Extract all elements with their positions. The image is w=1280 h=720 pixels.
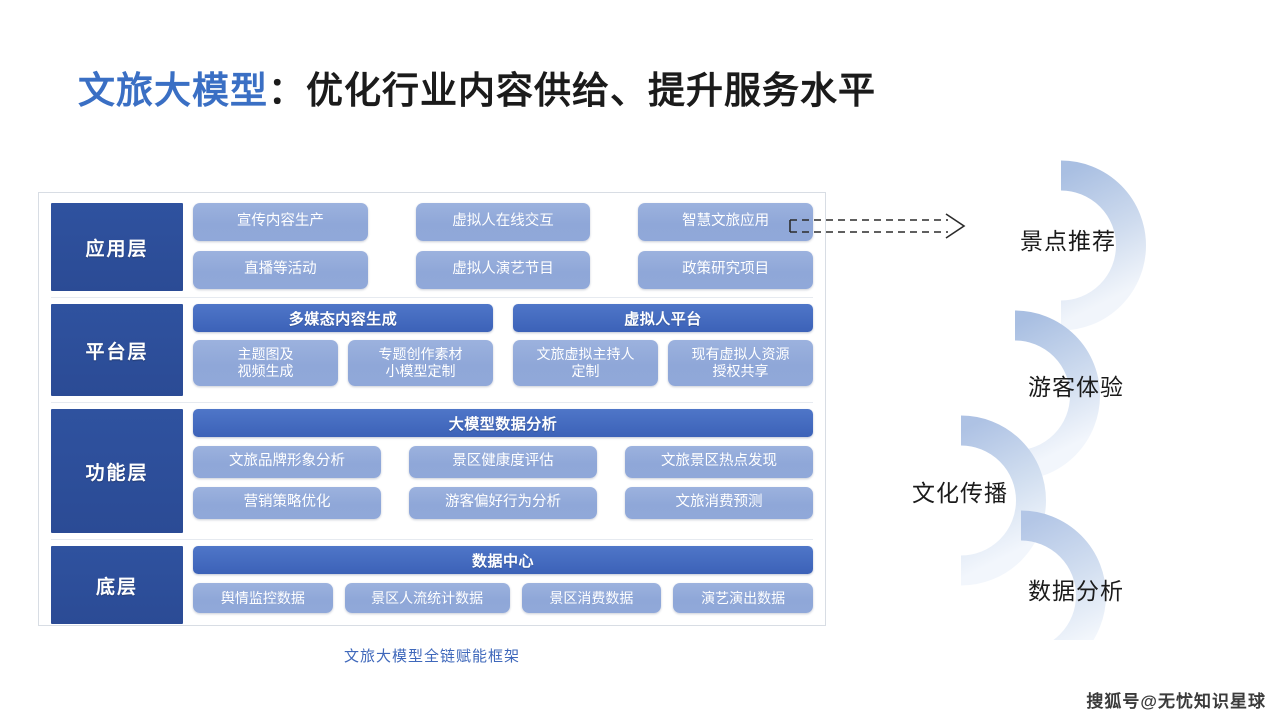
layer-row-platform: 平台层 多媒态内容生成 主题图及 视频生成 专题创作素材 小模型定制 虚拟人平台… xyxy=(51,297,813,396)
platform-media-boxes: 主题图及 视频生成 专题创作素材 小模型定制 xyxy=(193,340,493,386)
application-box-grid: 宣传内容生产 虚拟人在线交互 智慧文旅应用 直播等活动 虚拟人演艺节目 政策研究… xyxy=(193,203,813,289)
base-box-2[interactable]: 景区人流统计数据 xyxy=(345,583,510,613)
arc-label-1: 景点推荐 xyxy=(1020,222,1116,256)
layer-badge-platform: 平台层 xyxy=(51,304,183,396)
platform-group-avatar: 虚拟人平台 文旅虚拟主持人 定制 现有虚拟人资源 授权共享 xyxy=(513,304,813,386)
layer-badge-application: 应用层 xyxy=(51,203,183,291)
arc-label-4: 数据分析 xyxy=(1028,572,1124,606)
func-box-1[interactable]: 文旅品牌形象分析 xyxy=(193,446,381,478)
platform-avatar-boxes: 文旅虚拟主持人 定制 现有虚拟人资源 授权共享 xyxy=(513,340,813,386)
func-box-2[interactable]: 景区健康度评估 xyxy=(409,446,597,478)
base-box-grid: 舆情监控数据 景区人流统计数据 景区消费数据 演艺演出数据 xyxy=(193,583,813,613)
function-box-grid: 文旅品牌形象分析 景区健康度评估 文旅景区热点发现 营销策略优化 游客偏好行为分… xyxy=(193,446,813,519)
platform-box-1[interactable]: 主题图及 视频生成 xyxy=(193,340,338,386)
layer-body-application: 宣传内容生产 虚拟人在线交互 智慧文旅应用 直播等活动 虚拟人演艺节目 政策研究… xyxy=(193,203,813,291)
func-box-4[interactable]: 营销策略优化 xyxy=(193,487,381,519)
page-title-main: ：优化行业内容供给、提升服务水平 xyxy=(268,70,876,111)
platform-group-media: 多媒态内容生成 主题图及 视频生成 专题创作素材 小模型定制 xyxy=(193,304,493,386)
function-wrap: 大模型数据分析 文旅品牌形象分析 景区健康度评估 文旅景区热点发现 营销策略优化… xyxy=(193,409,813,519)
watermark: 搜狐号@无忧知识星球 xyxy=(1086,687,1266,712)
app-box-4[interactable]: 直播等活动 xyxy=(193,251,368,289)
page-title-accent: 文旅大模型 xyxy=(78,70,268,111)
framework-caption: 文旅大模型全链赋能框架 xyxy=(38,645,826,666)
outcome-arc-cluster: 景点推荐 游客体验 文化传播 数据分析 xyxy=(880,140,1280,640)
app-box-5[interactable]: 虚拟人演艺节目 xyxy=(416,251,591,289)
platform-box-2[interactable]: 专题创作素材 小模型定制 xyxy=(348,340,493,386)
layer-body-platform: 多媒态内容生成 主题图及 视频生成 专题创作素材 小模型定制 虚拟人平台 文旅虚… xyxy=(193,304,813,396)
layer-badge-base: 底层 xyxy=(51,546,183,624)
function-header[interactable]: 大模型数据分析 xyxy=(193,409,813,437)
layer-row-function: 功能层 大模型数据分析 文旅品牌形象分析 景区健康度评估 文旅景区热点发现 营销… xyxy=(51,402,813,533)
app-box-2[interactable]: 虚拟人在线交互 xyxy=(416,203,591,241)
func-box-6[interactable]: 文旅消费预测 xyxy=(625,487,813,519)
base-header[interactable]: 数据中心 xyxy=(193,546,813,574)
layer-row-base: 底层 数据中心 舆情监控数据 景区人流统计数据 景区消费数据 演艺演出数据 xyxy=(51,539,813,624)
layer-body-base: 数据中心 舆情监控数据 景区人流统计数据 景区消费数据 演艺演出数据 xyxy=(193,546,813,624)
func-box-5[interactable]: 游客偏好行为分析 xyxy=(409,487,597,519)
platform-header-media[interactable]: 多媒态内容生成 xyxy=(193,304,493,332)
arc-label-3: 文化传播 xyxy=(912,474,1008,508)
app-box-6[interactable]: 政策研究项目 xyxy=(638,251,813,289)
layer-body-function: 大模型数据分析 文旅品牌形象分析 景区健康度评估 文旅景区热点发现 营销策略优化… xyxy=(193,409,813,533)
app-box-3[interactable]: 智慧文旅应用 xyxy=(638,203,813,241)
page-title: 文旅大模型：优化行业内容供给、提升服务水平 xyxy=(78,60,876,114)
framework-diagram: 应用层 宣传内容生产 虚拟人在线交互 智慧文旅应用 直播等活动 虚拟人演艺节目 … xyxy=(38,192,826,626)
platform-box-4[interactable]: 现有虚拟人资源 授权共享 xyxy=(668,340,813,386)
layer-badge-function: 功能层 xyxy=(51,409,183,533)
base-box-3[interactable]: 景区消费数据 xyxy=(522,583,662,613)
app-box-1[interactable]: 宣传内容生产 xyxy=(193,203,368,241)
layer-row-application: 应用层 宣传内容生产 虚拟人在线交互 智慧文旅应用 直播等活动 虚拟人演艺节目 … xyxy=(51,203,813,291)
base-box-4[interactable]: 演艺演出数据 xyxy=(673,583,813,613)
platform-box-3[interactable]: 文旅虚拟主持人 定制 xyxy=(513,340,658,386)
arc-label-2: 游客体验 xyxy=(1028,368,1124,402)
func-box-3[interactable]: 文旅景区热点发现 xyxy=(625,446,813,478)
base-box-1[interactable]: 舆情监控数据 xyxy=(193,583,333,613)
base-wrap: 数据中心 舆情监控数据 景区人流统计数据 景区消费数据 演艺演出数据 xyxy=(193,546,813,613)
platform-group-grid: 多媒态内容生成 主题图及 视频生成 专题创作素材 小模型定制 虚拟人平台 文旅虚… xyxy=(193,304,813,386)
platform-header-avatar[interactable]: 虚拟人平台 xyxy=(513,304,813,332)
